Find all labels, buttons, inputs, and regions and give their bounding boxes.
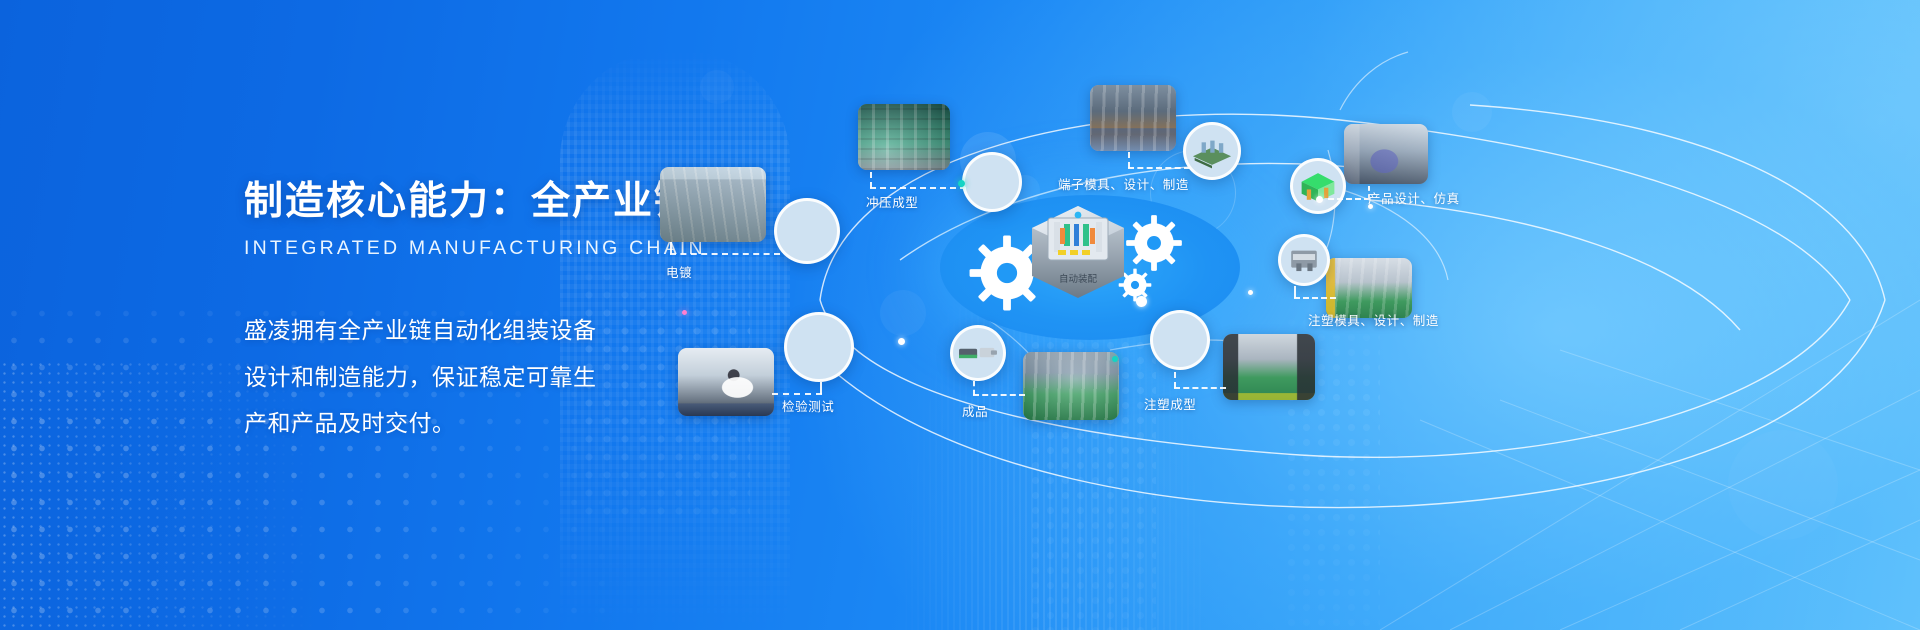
terminal-mold-closeup[interactable]	[1183, 122, 1241, 180]
injection-mold-photo[interactable]	[1326, 258, 1412, 318]
stamping-photo[interactable]	[858, 104, 950, 170]
terminal-mold-label: 端子模具、设计、制造	[1058, 174, 1189, 193]
orbit-dot-teal-1	[958, 180, 965, 187]
stamping-label: 冲压成型	[866, 192, 918, 211]
injection-forming-connector-h	[1174, 387, 1226, 389]
orbit-dot-3	[1316, 196, 1323, 203]
electroplating-connector-h	[670, 253, 780, 255]
orbit-dot-4	[1368, 204, 1373, 209]
automatic-assembly-module[interactable]: 自动装配	[1018, 198, 1138, 306]
terminal-mold-connector-v	[1128, 152, 1130, 168]
electroplating-photo[interactable]	[660, 167, 766, 242]
process-chain-diagram: 自动装配 电镀	[780, 0, 1920, 630]
injection-mold-label: 注塑模具、设计、制造	[1308, 310, 1439, 329]
page-subtitle: INTEGRATED MANUFACTURING CHAIN	[244, 237, 724, 260]
injection-forming-photo[interactable]	[1223, 334, 1315, 400]
banner-hero: 制造核心能力：全产业链 INTEGRATED MANUFACTURING CHA…	[0, 0, 1920, 630]
bokeh-7	[700, 70, 734, 104]
product-design-label: 产品设计、仿真	[1368, 188, 1460, 207]
finished-goods-photo[interactable]	[1023, 352, 1119, 420]
inspection-closeup[interactable]	[784, 312, 854, 382]
stamping-closeup[interactable]	[962, 152, 1022, 212]
injection-mold-connector-h	[1294, 297, 1336, 299]
inspection-label: 检验测试	[782, 396, 834, 415]
electroplating-label: 电镀	[666, 262, 692, 281]
orbit-dot-teal-2	[1112, 356, 1118, 362]
stamping-connector-h	[870, 187, 966, 189]
injection-mold-closeup[interactable]	[1278, 234, 1330, 286]
orbit-dot-pink-1	[682, 310, 687, 315]
injection-forming-connector-v	[1174, 372, 1176, 388]
hero-copy: 制造核心能力：全产业链 INTEGRATED MANUFACTURING CHA…	[244, 180, 724, 447]
inspection-photo[interactable]	[678, 348, 774, 416]
inspection-connector-h	[772, 393, 822, 395]
product-design-photo[interactable]	[1344, 124, 1428, 184]
finished-goods-label: 成品	[962, 401, 988, 420]
page-title: 制造核心能力：全产业链	[244, 180, 724, 225]
finished-goods-closeup[interactable]	[950, 325, 1006, 381]
terminal-mold-connector-h	[1128, 167, 1190, 169]
hero-body-text: 盛凌拥有全产业链自动化组装设备设计和制造能力，保证稳定可靠生产和产品及时交付。	[244, 307, 609, 447]
product-design-closeup[interactable]	[1290, 158, 1346, 214]
terminal-mold-photo[interactable]	[1090, 85, 1176, 151]
stamping-connector-v	[870, 172, 872, 188]
electroplating-closeup[interactable]	[774, 198, 840, 264]
injection-forming-label: 注塑成型	[1144, 394, 1196, 413]
orbit-dot-5	[1248, 290, 1253, 295]
finished-goods-connector-h	[973, 394, 1025, 396]
product-design-connector-h	[1328, 198, 1370, 200]
finished-goods-connector-v	[973, 381, 975, 395]
injection-forming-closeup[interactable]	[1150, 310, 1210, 370]
orbit-dot-1	[898, 338, 905, 345]
automatic-assembly-label: 自动装配	[1059, 273, 1098, 285]
orbit-dot-2	[1136, 296, 1147, 307]
